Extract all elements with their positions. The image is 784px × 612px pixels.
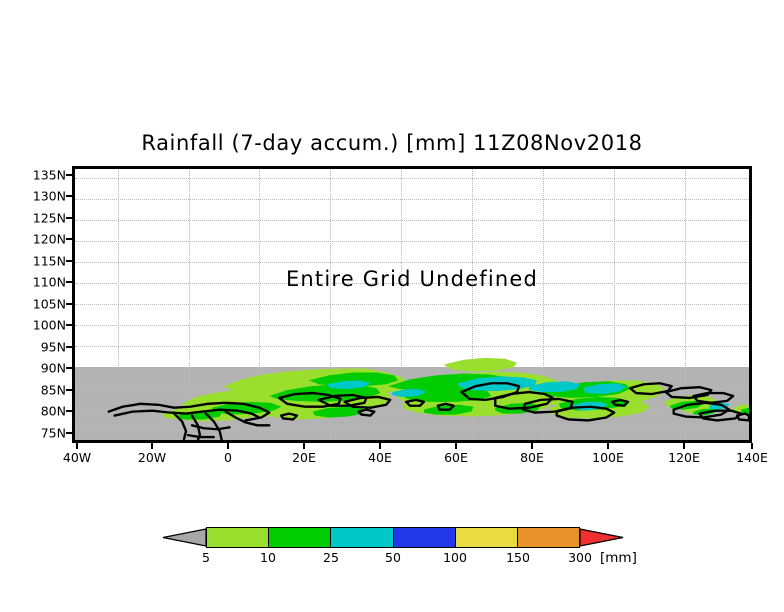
y-tick-label: 95N bbox=[8, 340, 66, 355]
colorbar[interactable]: 5 10 25 50 100 150 300 [mm] bbox=[163, 527, 623, 567]
colorbar-swatch-150-300[interactable] bbox=[517, 527, 580, 548]
colorbar-high-arrow bbox=[580, 529, 623, 546]
x-tick-label: 120E bbox=[668, 450, 700, 465]
y-tick-mark bbox=[66, 324, 72, 326]
y-tick-mark bbox=[66, 238, 72, 240]
y-tick-mark bbox=[66, 410, 72, 412]
grid-undefined-annotation: Entire Grid Undefined bbox=[75, 267, 749, 291]
x-tick-mark bbox=[531, 443, 533, 449]
x-tick-label: 100E bbox=[592, 450, 624, 465]
colorbar-tick-label: 25 bbox=[323, 550, 339, 565]
x-tick-mark bbox=[683, 443, 685, 449]
x-tick-mark bbox=[303, 443, 305, 449]
y-tick-mark bbox=[66, 346, 72, 348]
colorbar-swatches bbox=[206, 527, 580, 548]
y-tick-mark bbox=[66, 195, 72, 197]
x-tick-label: 20W bbox=[138, 450, 166, 465]
y-tick-mark bbox=[66, 281, 72, 283]
colorbar-swatch-10-25[interactable] bbox=[268, 527, 330, 548]
y-tick-label: 110N bbox=[8, 275, 66, 290]
y-tick-label: 80N bbox=[8, 404, 66, 419]
y-axis: 135N 130N 125N 120N 115N 110N 105N 100N … bbox=[0, 0, 784, 612]
x-tick-label: 140E bbox=[736, 450, 768, 465]
x-tick-mark bbox=[227, 443, 229, 449]
x-tick-label: 80E bbox=[520, 450, 544, 465]
colorbar-tick-label: 50 bbox=[385, 550, 401, 565]
y-tick-label: 135N bbox=[8, 168, 66, 183]
x-tick-mark bbox=[379, 443, 381, 449]
y-tick-label: 125N bbox=[8, 211, 66, 226]
y-tick-label: 120N bbox=[8, 232, 66, 247]
colorbar-swatch-5-10[interactable] bbox=[206, 527, 268, 548]
x-tick-label: 40W bbox=[63, 450, 91, 465]
x-tick-mark bbox=[607, 443, 609, 449]
colorbar-units-label: [mm] bbox=[600, 550, 637, 566]
colorbar-tick-labels: 5 10 25 50 100 150 300 bbox=[206, 550, 580, 566]
y-tick-mark bbox=[66, 217, 72, 219]
y-tick-label: 75N bbox=[8, 426, 66, 441]
x-tick-mark bbox=[455, 443, 457, 449]
x-tick-label: 0 bbox=[224, 450, 232, 465]
x-tick-label: 20E bbox=[292, 450, 316, 465]
y-tick-mark bbox=[66, 367, 72, 369]
colorbar-tick-label: 10 bbox=[260, 550, 276, 565]
colorbar-swatch-100-150[interactable] bbox=[455, 527, 517, 548]
colorbar-tick-label: 100 bbox=[443, 550, 467, 565]
x-tick-mark bbox=[151, 443, 153, 449]
y-tick-mark bbox=[66, 432, 72, 434]
x-tick-mark bbox=[76, 443, 78, 449]
colorbar-low-arrow bbox=[163, 529, 206, 546]
y-tick-label: 85N bbox=[8, 383, 66, 398]
colorbar-tick-label: 5 bbox=[202, 550, 210, 565]
colorbar-swatch-50-100[interactable] bbox=[393, 527, 455, 548]
x-tick-label: 40E bbox=[368, 450, 392, 465]
colorbar-tick-label: 150 bbox=[506, 550, 530, 565]
y-tick-mark bbox=[66, 260, 72, 262]
x-tick-label: 60E bbox=[444, 450, 468, 465]
y-tick-mark bbox=[66, 389, 72, 391]
y-tick-label: 130N bbox=[8, 189, 66, 204]
y-tick-label: 100N bbox=[8, 318, 66, 333]
y-tick-label: 115N bbox=[8, 254, 66, 269]
y-tick-label: 105N bbox=[8, 297, 66, 312]
y-tick-mark bbox=[66, 174, 72, 176]
colorbar-swatch-25-50[interactable] bbox=[330, 527, 392, 548]
x-tick-mark bbox=[751, 443, 753, 449]
colorbar-tick-label: 300 bbox=[568, 550, 592, 565]
y-tick-label: 90N bbox=[8, 361, 66, 376]
y-tick-mark bbox=[66, 303, 72, 305]
